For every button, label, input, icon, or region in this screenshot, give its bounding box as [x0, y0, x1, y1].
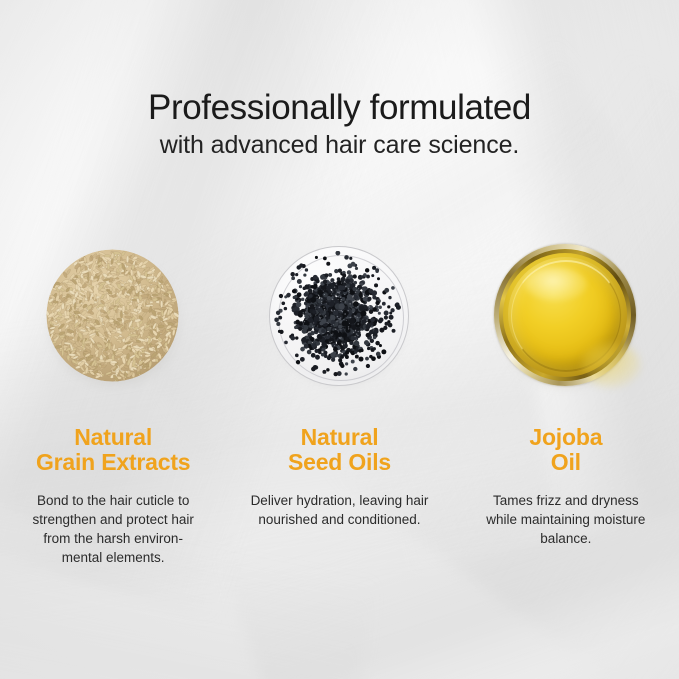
ingredient-description: Deliver hydration, leaving hair nourishe… [251, 491, 429, 529]
headline-primary: Professionally formulated [0, 88, 679, 128]
ingredient-description: Bond to the hair cuticle to strengthen a… [32, 491, 193, 567]
ingredient-benefits-banner: Professionally formulated with advanced … [0, 0, 679, 679]
ingredient-column-seed-oils: Natural Seed Oils Deliver hydration, lea… [226, 240, 452, 567]
ingredient-column-jojoba-oil: Jojoba Oil Tames frizz and dryness while… [453, 240, 679, 567]
ingredient-description: Tames frizz and dryness while maintainin… [486, 491, 645, 548]
petri-dish-black-seeds-image [264, 240, 414, 390]
oil-edge-glow [582, 343, 640, 387]
black-seeds-graphic [267, 244, 411, 388]
oil-highlight [525, 267, 587, 301]
jojoba-oil-jar-image [491, 240, 641, 390]
ingredient-title: Natural Grain Extracts [36, 425, 190, 475]
ingredient-title: Natural Seed Oils [288, 425, 391, 475]
headline-secondary: with advanced hair care science. [0, 129, 679, 161]
ingredient-columns: Natural Grain Extracts Bond to the hair … [0, 240, 679, 567]
headline-block: Professionally formulated with advanced … [0, 88, 679, 161]
ingredient-title: Jojoba Oil [529, 425, 602, 475]
grain-pile-graphic [42, 245, 183, 386]
grain-pile-image [38, 240, 188, 390]
ingredient-column-grain-extracts: Natural Grain Extracts Bond to the hair … [0, 240, 226, 567]
